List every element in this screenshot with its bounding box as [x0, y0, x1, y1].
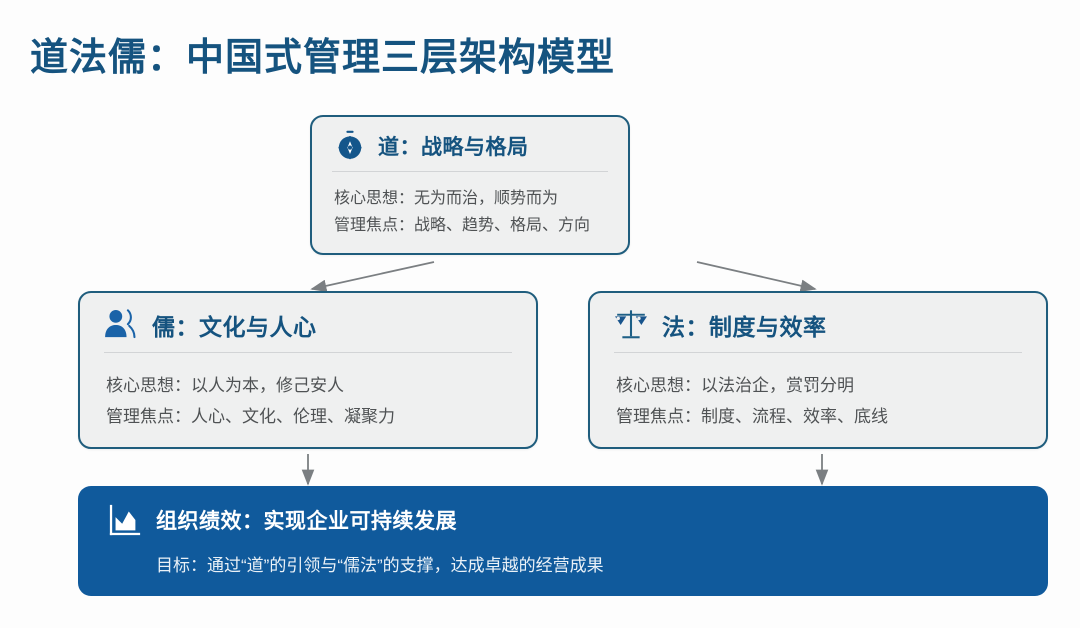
card-dao-header: 道：战略与格局: [312, 117, 628, 162]
card-ru[interactable]: 儒：文化与人心 核心思想：以人为本，修己安人 管理焦点：人心、文化、伦理、凝聚力: [78, 291, 538, 449]
card-fa-body: 核心思想：以法治企，赏罚分明 管理焦点：制度、流程、效率、底线: [590, 353, 1046, 432]
card-dao-body: 核心思想：无为而治，顺势而为 管理焦点：战略、趋势、格局、方向: [312, 172, 628, 239]
card-fa-line-1: 核心思想：以法治企，赏罚分明: [616, 370, 1020, 401]
people-icon: [102, 306, 140, 344]
balance-scales-icon: [612, 306, 650, 344]
card-fa-title: 法：制度与效率: [662, 308, 827, 342]
card-ru-title: 儒：文化与人心: [152, 308, 317, 342]
card-fa-line-2: 管理焦点：制度、流程、效率、底线: [616, 401, 1020, 432]
outcome-header: 组织绩效：实现企业可持续发展: [78, 486, 1048, 537]
compass-icon: [334, 130, 366, 162]
card-ru-line-2: 管理焦点：人心、文化、伦理、凝聚力: [106, 401, 510, 432]
outcome-title: 组织绩效：实现企业可持续发展: [156, 505, 457, 535]
card-dao-line-2: 管理焦点：战略、趋势、格局、方向: [334, 212, 606, 239]
card-ru-header: 儒：文化与人心: [80, 293, 536, 344]
card-dao-title: 道：战略与格局: [378, 131, 529, 161]
connector-dao-to-ru: [312, 262, 434, 289]
outcome-bar[interactable]: 组织绩效：实现企业可持续发展 目标：通过“道”的引领与“儒法”的支撑，达成卓越的…: [78, 486, 1048, 596]
card-dao[interactable]: 道：战略与格局 核心思想：无为而治，顺势而为 管理焦点：战略、趋势、格局、方向: [310, 115, 630, 255]
card-ru-line-1: 核心思想：以人为本，修己安人: [106, 370, 510, 401]
card-fa[interactable]: 法：制度与效率 核心思想：以法治企，赏罚分明 管理焦点：制度、流程、效率、底线: [588, 291, 1048, 449]
card-ru-body: 核心思想：以人为本，修己安人 管理焦点：人心、文化、伦理、凝聚力: [80, 353, 536, 432]
outcome-goal: 目标：通过“道”的引领与“儒法”的支撑，达成卓越的经营成果: [78, 537, 1048, 576]
bar-chart-icon: [108, 503, 142, 537]
connector-dao-to-fa: [697, 262, 815, 289]
page-title: 道法儒：中国式管理三层架构模型: [30, 26, 615, 81]
card-dao-line-1: 核心思想：无为而治，顺势而为: [334, 185, 606, 212]
diagram-canvas: 道法儒：中国式管理三层架构模型 道：战略与格局: [0, 0, 1080, 628]
card-fa-header: 法：制度与效率: [590, 293, 1046, 344]
